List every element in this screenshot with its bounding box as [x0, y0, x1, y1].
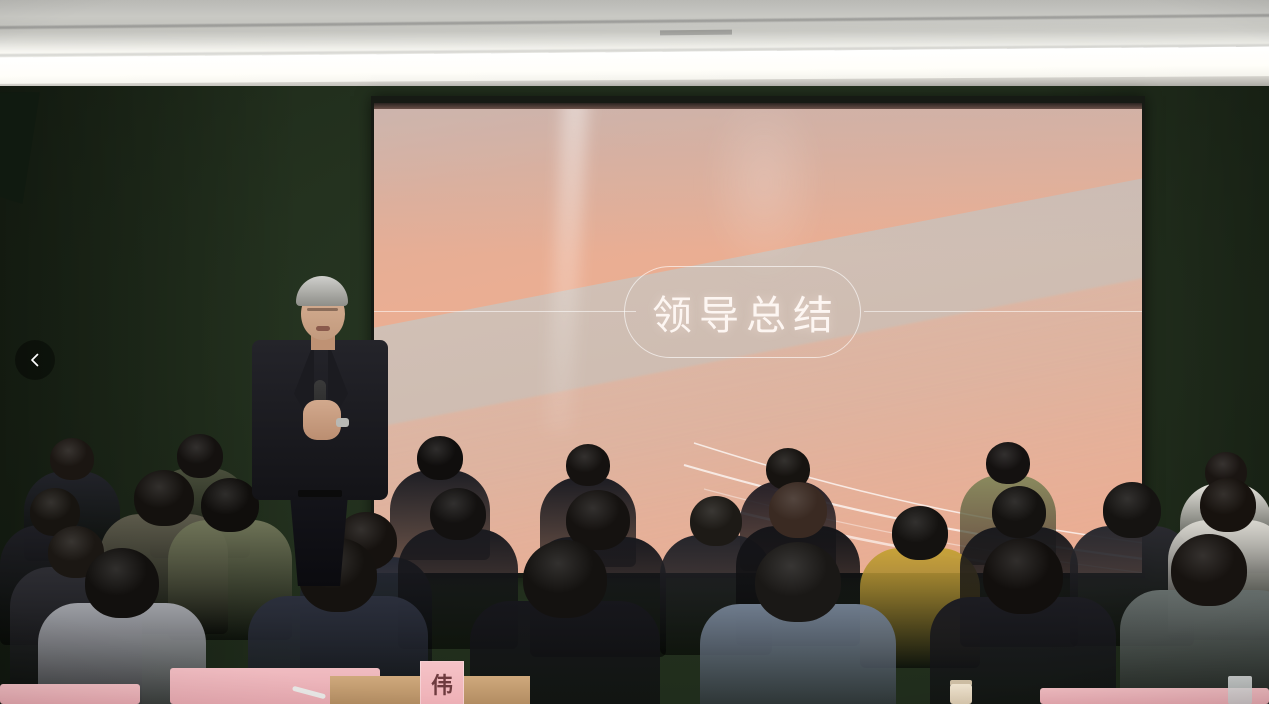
- name-placard: 伟: [420, 661, 464, 704]
- audience-member-head: [1171, 534, 1247, 606]
- photo-viewer: 领导总结 伟: [0, 0, 1269, 704]
- audience-member: [700, 542, 896, 704]
- cup: [1228, 676, 1252, 704]
- audience-member-head: [1200, 478, 1256, 532]
- audience-member-head: [566, 444, 610, 486]
- slide-title: 领导总结: [645, 283, 840, 341]
- speaker-wristwatch: [336, 418, 349, 427]
- audience-member-head: [523, 540, 607, 618]
- audience-member-head: [417, 436, 463, 480]
- screen-glare-soft: [704, 103, 824, 283]
- speaker-mouth: [316, 326, 330, 331]
- carousel-prev-button[interactable]: [15, 340, 55, 380]
- name-placard-text: 伟: [431, 668, 453, 700]
- speaker-presenter: [250, 272, 390, 572]
- audience-member-head: [85, 548, 159, 618]
- audience-member-head: [50, 438, 94, 480]
- conference-table: [0, 684, 140, 704]
- chevron-left-icon: [27, 352, 43, 368]
- audience-member-head: [755, 542, 841, 622]
- audience-member-head: [430, 488, 486, 540]
- water-bottle: [950, 684, 972, 704]
- speaker-belt: [298, 490, 342, 497]
- slide-title-pill: 领导总结: [624, 266, 861, 358]
- ceiling-seam: [0, 13, 1269, 29]
- speaker-brow: [307, 308, 338, 311]
- audience: [0, 430, 1269, 704]
- audience-member-head: [769, 482, 827, 538]
- audience-member-head: [983, 538, 1063, 614]
- slide-rule-right: [864, 311, 1142, 312]
- audience-member-head: [992, 486, 1046, 538]
- speaker-hair: [296, 276, 348, 306]
- screen-top-bar: [374, 103, 1142, 109]
- audience-member-head: [986, 442, 1030, 484]
- slide-rule-left: [374, 311, 636, 312]
- ceiling: [0, 0, 1269, 92]
- ceiling-vent: [660, 30, 732, 36]
- audience-member-head: [1103, 482, 1161, 538]
- audience-member-head: [690, 496, 742, 546]
